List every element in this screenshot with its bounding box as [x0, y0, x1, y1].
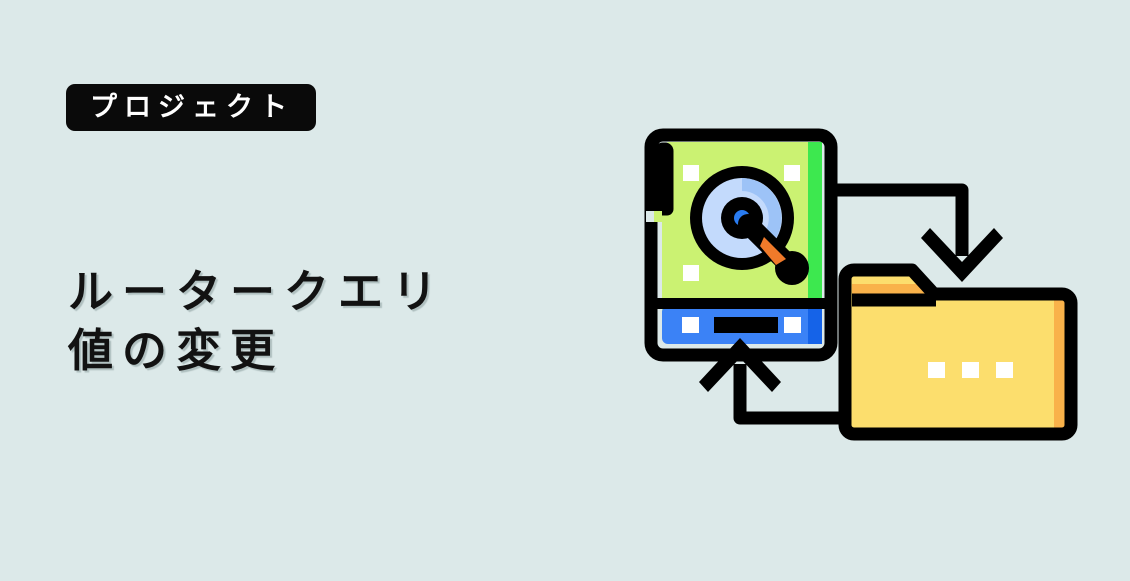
- drive-divider: [654, 298, 830, 309]
- text-column: プロジェクト ルータークエリ 値の変更: [66, 0, 626, 581]
- folder-ellipsis-dot: [996, 362, 1013, 378]
- drive-marker-square: [683, 265, 699, 281]
- folder-ellipsis-dot: [928, 362, 945, 378]
- category-badge: プロジェクト: [66, 84, 316, 131]
- folder-icon: [845, 270, 1071, 434]
- drive-footer-square: [784, 317, 801, 333]
- drive-marker-square: [683, 165, 699, 181]
- hard-drive-icon: [646, 135, 831, 355]
- drive-footer-square: [682, 317, 699, 333]
- folder-ellipsis-dot: [962, 362, 979, 378]
- drive-footer-bar: [714, 317, 778, 333]
- folder-tab-accent: [852, 284, 928, 294]
- slide-root: プロジェクト ルータークエリ 値の変更: [0, 0, 1130, 581]
- illustration: [640, 110, 1100, 450]
- drive-marker-square: [784, 165, 800, 181]
- page-title: ルータークエリ 値の変更: [68, 262, 446, 381]
